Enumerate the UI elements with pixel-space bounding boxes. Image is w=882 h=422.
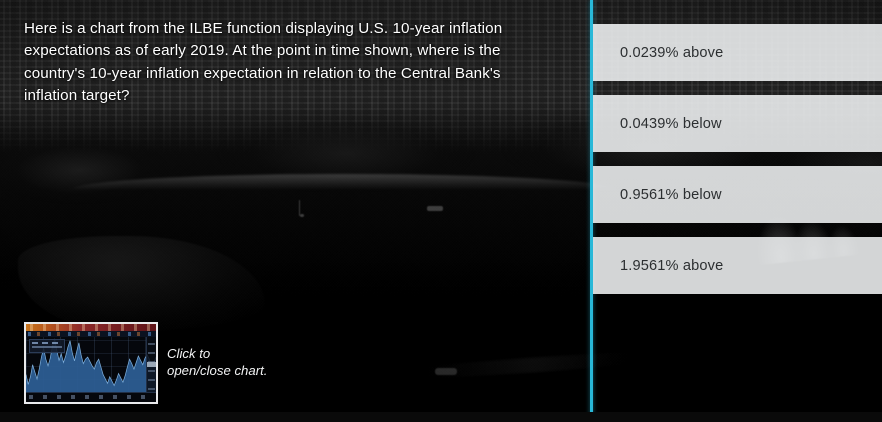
answer-option-1[interactable]: 0.0239% above: [593, 24, 882, 81]
bottom-bar: [0, 412, 882, 422]
caption-line-2: open/close chart.: [167, 362, 267, 379]
answer-option-4[interactable]: 1.9561% above: [593, 237, 882, 294]
thumbnail-plot-area: [26, 337, 156, 393]
quiz-screen: Here is a chart from the ILBE function d…: [0, 0, 882, 422]
answer-option-label: 1.9561% above: [620, 258, 723, 274]
chart-thumbnail-caption: Click to open/close chart.: [167, 345, 267, 379]
answer-option-2[interactable]: 0.0439% below: [593, 95, 882, 152]
answer-option-label: 0.0439% below: [620, 116, 722, 132]
question-panel: Here is a chart from the ILBE function d…: [24, 18, 544, 108]
thumbnail-x-axis: [26, 392, 156, 402]
terminal-header-bar: [26, 324, 156, 331]
answer-option-3[interactable]: 0.9561% below: [593, 166, 882, 223]
thumbnail-legend-box: [29, 339, 65, 353]
caption-line-1: Click to: [167, 345, 267, 362]
answer-option-label: 0.0239% above: [620, 45, 723, 61]
answer-options-list: 0.0239% above 0.0439% below 0.9561% belo…: [593, 0, 882, 422]
question-text: Here is a chart from the ILBE function d…: [24, 18, 544, 108]
answer-option-label: 0.9561% below: [620, 187, 722, 203]
chart-thumbnail-button[interactable]: [24, 322, 158, 404]
thumbnail-last-price-tag: [147, 362, 156, 367]
